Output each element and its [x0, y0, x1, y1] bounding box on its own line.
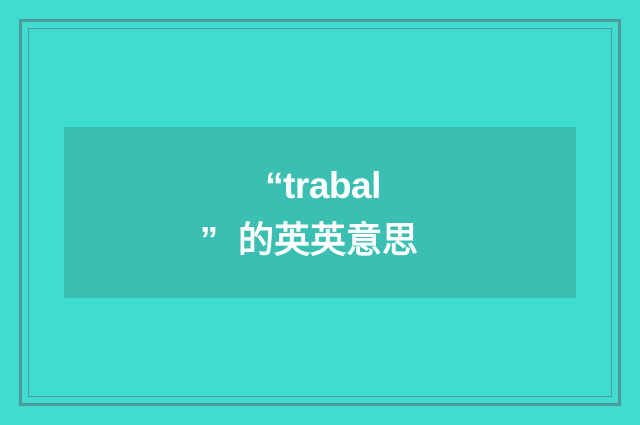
- title-line-1: “trabal: [200, 167, 440, 204]
- title-panel: “trabal ” 的英英意思: [64, 127, 576, 298]
- title-card-canvas: “trabal ” 的英英意思: [0, 0, 640, 425]
- title-block: “trabal ” 的英英意思: [200, 167, 440, 258]
- title-line-2: ” 的英英意思: [200, 222, 440, 258]
